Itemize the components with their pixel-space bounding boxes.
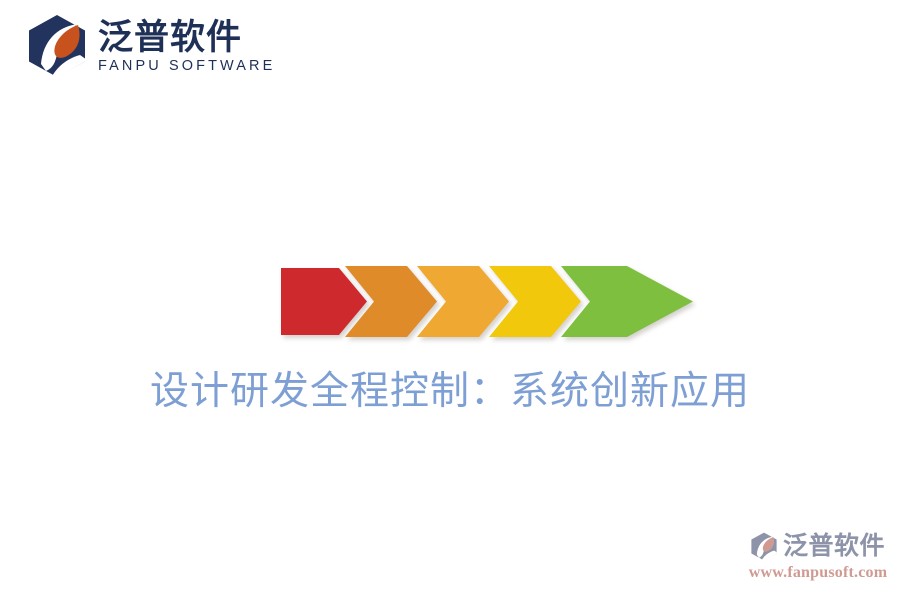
- fanpu-hexagon-logo-icon: [26, 14, 88, 78]
- watermark: 泛普软件 www.fanpusoft.com: [744, 532, 892, 588]
- brand-name-cn: 泛普软件: [98, 19, 275, 56]
- fanpu-watermark-logo-icon: [750, 532, 778, 561]
- brand-name-en: FANPU SOFTWARE: [98, 59, 275, 75]
- page-title: 设计研发全程控制：系统创新应用: [0, 368, 900, 417]
- arrow-segment-red: [281, 268, 367, 335]
- header-brand-text: 泛普软件 FANPU SOFTWARE: [98, 17, 275, 75]
- watermark-url: www.fanpusoft.com: [744, 564, 892, 582]
- five-stage-chevron-arrow-icon: [277, 258, 697, 346]
- watermark-brand-row: 泛普软件: [744, 532, 892, 561]
- header-brand: 泛普软件 FANPU SOFTWARE: [26, 14, 275, 78]
- watermark-brand-name: 泛普软件: [783, 534, 885, 559]
